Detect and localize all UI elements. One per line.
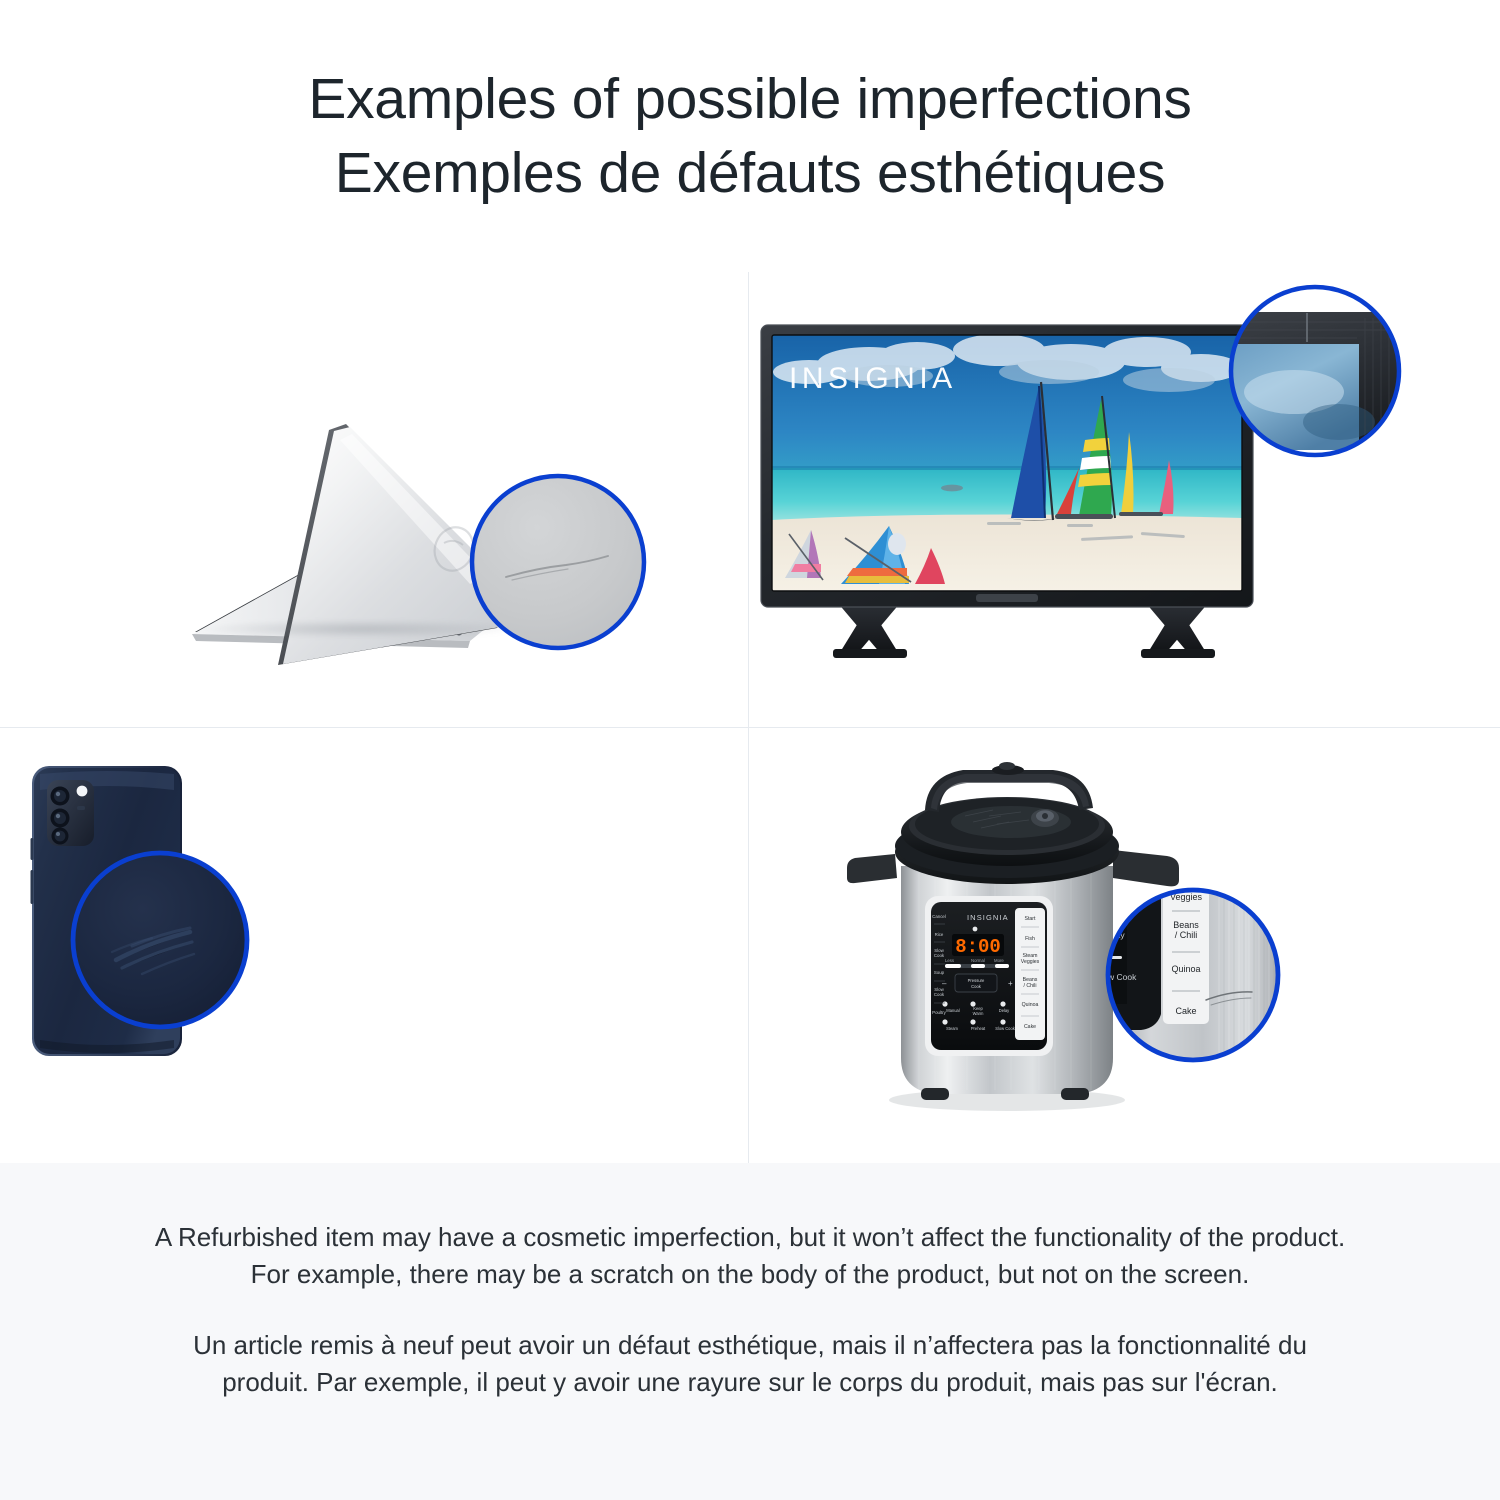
svg-text:Beans: Beans — [1173, 920, 1199, 930]
laptop-magnifier — [0, 272, 748, 727]
cooker-magnifier: Veggies Beans/ Chili Quinoa Cake e — [749, 728, 1500, 1180]
footer-description: A Refurbished item may have a cosmetic i… — [0, 1163, 1500, 1500]
footer-paragraph-french: Un article remis à neuf peut avoir un dé… — [150, 1327, 1350, 1401]
title-line-french: Exemples de défauts esthétiques — [335, 136, 1165, 210]
quadrant-pressure-cooker: INSIGNIA 8:00 LessNormalMore — [749, 728, 1500, 1180]
title-line-english: Examples of possible imperfections — [308, 62, 1191, 136]
svg-text:Quinoa: Quinoa — [1171, 964, 1200, 974]
quadrant-phone — [0, 728, 748, 1180]
page-title: Examples of possible imperfections Exemp… — [0, 0, 1500, 272]
quadrant-laptop — [0, 272, 748, 727]
footer-paragraph-english: A Refurbished item may have a cosmetic i… — [150, 1219, 1350, 1293]
examples-grid: INSIGNIA — [0, 272, 1500, 1163]
quadrant-tv: INSIGNIA — [749, 272, 1500, 727]
refurbished-imperfections-infographic: Examples of possible imperfections Exemp… — [0, 0, 1500, 1500]
svg-text:Cake: Cake — [1175, 1006, 1196, 1016]
svg-text:w Cook: w Cook — [1107, 972, 1137, 982]
tv-magnifier — [749, 272, 1500, 727]
phone-magnifier — [0, 728, 748, 1180]
svg-text:/ Chili: / Chili — [1175, 930, 1198, 940]
